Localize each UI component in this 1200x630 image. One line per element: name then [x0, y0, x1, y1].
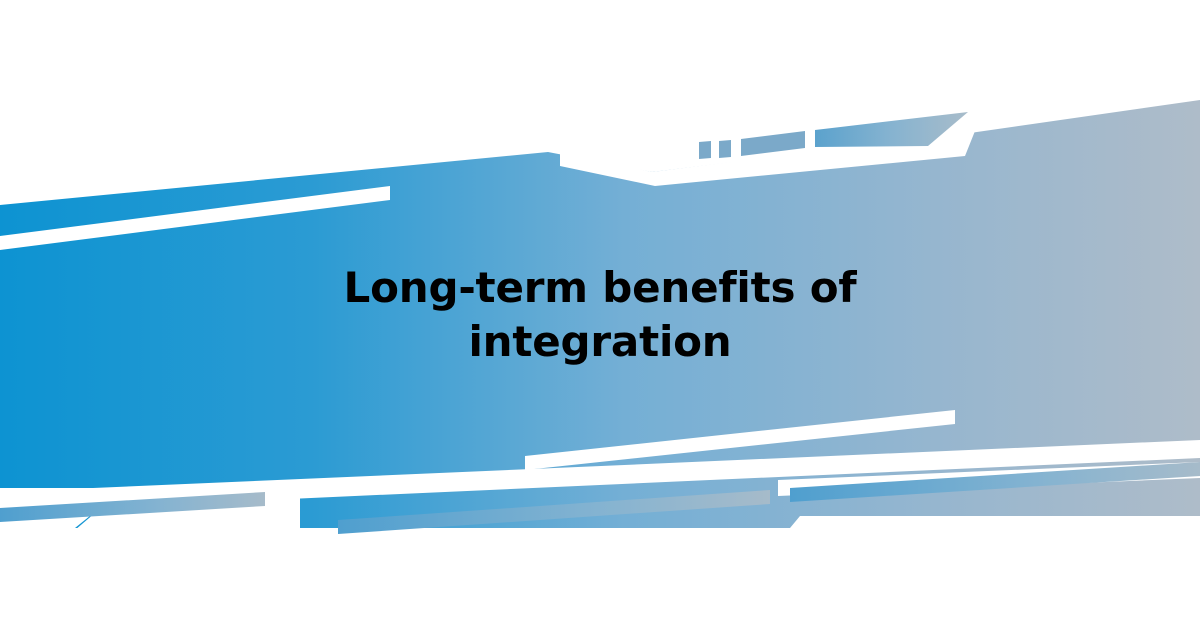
- dash-accent-1: [699, 141, 711, 159]
- banner-graphic: Long-term benefits of integration: [0, 0, 1200, 630]
- dash-accent-2: [719, 140, 731, 158]
- banner-background-art: [0, 0, 1200, 630]
